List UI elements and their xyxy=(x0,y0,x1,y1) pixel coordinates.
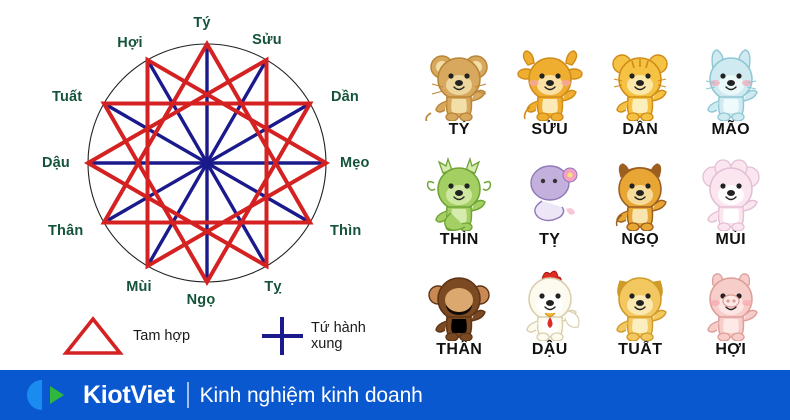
legend: Tam hợp Tứ hành xung xyxy=(0,308,400,366)
zodiac-cell-6: NGỌ xyxy=(595,138,686,248)
goat-icon xyxy=(693,157,769,231)
brand-footer: KiotViet Kinh nghiệm kinh doanh xyxy=(0,370,790,420)
zodiac-cell-8: THÂN xyxy=(414,248,505,358)
wheel-label-3: Mẹo xyxy=(340,156,370,171)
dog-icon xyxy=(602,267,678,341)
legend-label-tu-hanh-xung-line1: Tứ hành xyxy=(311,320,366,336)
wheel-label-8: Thân xyxy=(48,224,83,239)
zodiac-name-label: TÝ xyxy=(449,122,470,138)
legend-label-tam-hop: Tam hợp xyxy=(133,328,190,344)
wheel-label-2: Dần xyxy=(331,90,359,105)
wheel-label-5: Tỵ xyxy=(264,280,281,295)
zodiac-cell-4: THÌN xyxy=(414,138,505,248)
wheel-label-9: Dậu xyxy=(42,156,70,171)
brand-name: KiotViet xyxy=(83,383,175,408)
zodiac-cell-2: DẦN xyxy=(595,28,686,138)
wheel-label-6: Ngọ xyxy=(187,293,216,308)
zodiac-name-label: MÙI xyxy=(715,232,746,248)
wheel-label-7: Mùi xyxy=(126,280,152,295)
zodiac-cell-0: TÝ xyxy=(414,28,505,138)
zodiac-cell-3: MÃO xyxy=(686,28,777,138)
legend-item-tu-hanh-xung: Tứ hành xung xyxy=(258,314,366,358)
kiotviet-logo xyxy=(26,379,70,411)
wheel-label-1: Sửu xyxy=(252,33,282,48)
monkey-icon xyxy=(421,267,497,341)
zodiac-cell-1: SỬU xyxy=(505,28,596,138)
zodiac-animal-grid: TÝ SỬU xyxy=(400,0,790,370)
zodiac-cell-10: TUẤT xyxy=(595,248,686,358)
zodiac-name-label: NGỌ xyxy=(621,232,659,248)
cat-icon xyxy=(693,47,769,121)
legend-label-tu-hanh-xung: Tứ hành xung xyxy=(311,320,366,352)
zodiac-name-label: MÃO xyxy=(711,122,750,138)
wheel-label-10: Tuất xyxy=(52,90,82,105)
zodiac-cell-11: HỢI xyxy=(686,248,777,358)
tiger-icon xyxy=(602,47,678,121)
legend-item-tam-hop: Tam hợp xyxy=(62,314,190,358)
zodiac-name-label: HỢI xyxy=(715,342,746,358)
brand-divider xyxy=(187,382,189,408)
dragon-icon xyxy=(421,157,497,231)
zodiac-name-label: TỴ xyxy=(539,232,560,248)
wheel-label-4: Thìn xyxy=(330,224,361,239)
wheel-label-11: Hợi xyxy=(117,36,142,51)
legend-label-tu-hanh-xung-line2: xung xyxy=(311,336,342,352)
wheel-center-hub xyxy=(203,159,211,167)
rat-icon xyxy=(421,47,497,121)
zodiac-name-label: DẬU xyxy=(532,342,568,358)
zodiac-name-label: THÌN xyxy=(440,232,479,248)
pig-icon xyxy=(693,267,769,341)
zodiac-name-label: THÂN xyxy=(436,342,482,358)
zodiac-name-label: TUẤT xyxy=(618,342,662,358)
zodiac-cell-7: MÙI xyxy=(686,138,777,248)
ox-icon xyxy=(512,47,588,121)
zodiac-cell-5: TỴ xyxy=(505,138,596,248)
plus-cross-icon xyxy=(258,314,306,358)
wheel-label-0: Tý xyxy=(193,16,210,31)
zodiac-name-label: DẦN xyxy=(622,122,658,138)
snake-icon xyxy=(512,157,588,231)
triangle-icon xyxy=(62,314,124,358)
brand-tagline: Kinh nghiệm kinh doanh xyxy=(200,385,423,406)
zodiac-cell-9: DẬU xyxy=(505,248,596,358)
zodiac-infographic: TýSửuDầnMẹoThìnTỵNgọMùiThânDậuTuấtHợi Ta… xyxy=(0,0,790,420)
zodiac-name-label: SỬU xyxy=(531,122,568,138)
rooster-icon xyxy=(512,267,588,341)
horse-icon xyxy=(602,157,678,231)
